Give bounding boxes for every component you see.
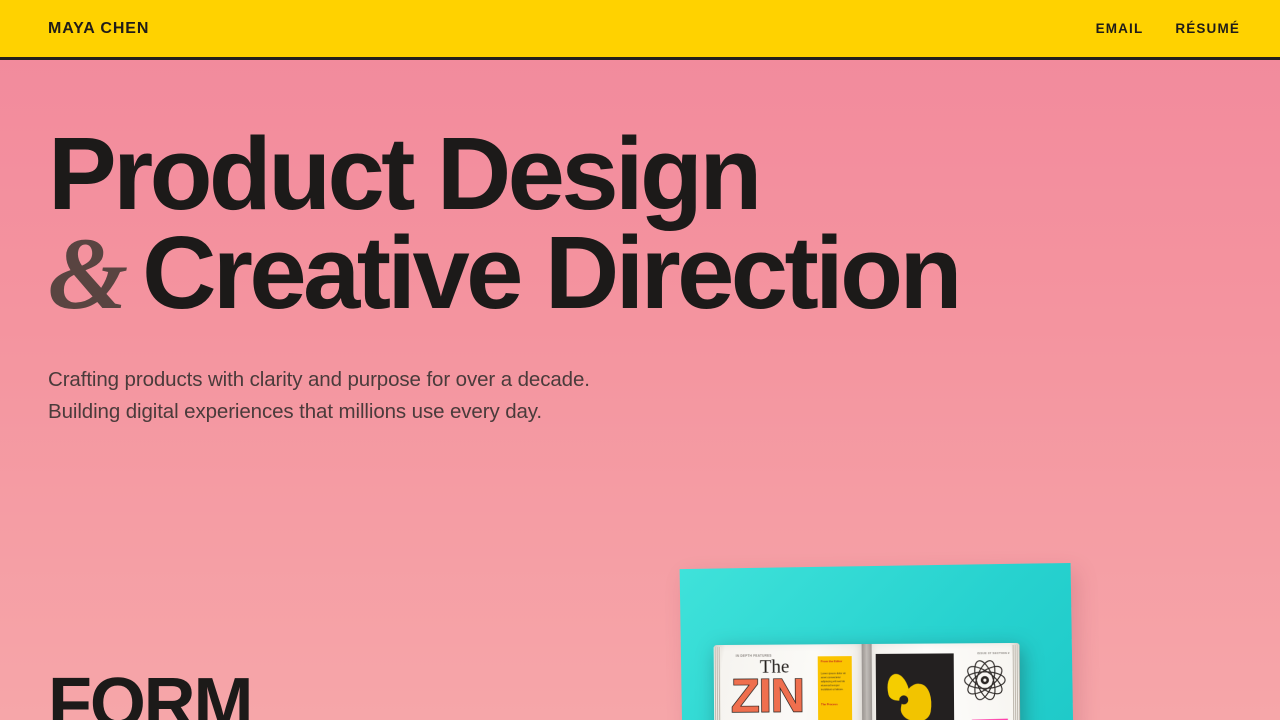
headline-line-2: &Creative Direction: [48, 224, 1280, 324]
subtitle-line-1: Crafting products with clarity and purpo…: [48, 364, 1280, 396]
section-heading-form: FORM: [48, 668, 251, 720]
page-edge-left: [714, 647, 722, 720]
sidebar-heading: From the Editor: [821, 659, 849, 663]
hero-section: Product Design &Creative Direction Craft…: [0, 60, 1280, 429]
hero-subtitle: Crafting products with clarity and purpo…: [0, 364, 1280, 429]
magazine-title-zin: ZIN: [731, 671, 804, 719]
sidebar-body-text: Lorem ipsum dolor sit amet consectetur a…: [821, 672, 849, 692]
nav-link-resume[interactable]: RÉSUMÉ: [1175, 21, 1240, 36]
page-title: Product Design &Creative Direction: [0, 125, 1280, 324]
brand-logo[interactable]: MAYA CHEN: [48, 20, 149, 38]
magazine-composition: IN DEPTH FEATURES The ZIN From the Edito…: [648, 540, 1118, 720]
headline-line-1: Product Design: [48, 125, 1280, 224]
subtitle-line-2: Building digital experiences that millio…: [48, 396, 1280, 428]
magazine-folio: ISSUE 07 SECTION 2: [977, 651, 1010, 656]
atom-diagram-icon: [962, 657, 1008, 703]
magazine-right-page: ISSUE 07 SECTION 2: [866, 643, 1021, 720]
ampersand-glyph: &: [48, 217, 142, 331]
page-edge-right: [1013, 645, 1021, 720]
primary-nav: EMAIL RÉSUMÉ: [1096, 21, 1240, 36]
magazine-black-panel: [876, 653, 955, 720]
headline-line-2-text: Creative Direction: [142, 215, 959, 330]
nav-link-email[interactable]: EMAIL: [1096, 21, 1144, 36]
sidebar-subheading: The Process: [821, 703, 849, 707]
site-header: MAYA CHEN EMAIL RÉSUMÉ: [0, 0, 1280, 60]
magazine-yellow-sidebar: From the Editor Lorem ipsum dolor sit am…: [818, 656, 853, 720]
magazine-left-page: IN DEPTH FEATURES The ZIN From the Edito…: [714, 644, 867, 720]
open-magazine: IN DEPTH FEATURES The ZIN From the Edito…: [714, 643, 1021, 720]
magazine-spine: [862, 644, 873, 720]
